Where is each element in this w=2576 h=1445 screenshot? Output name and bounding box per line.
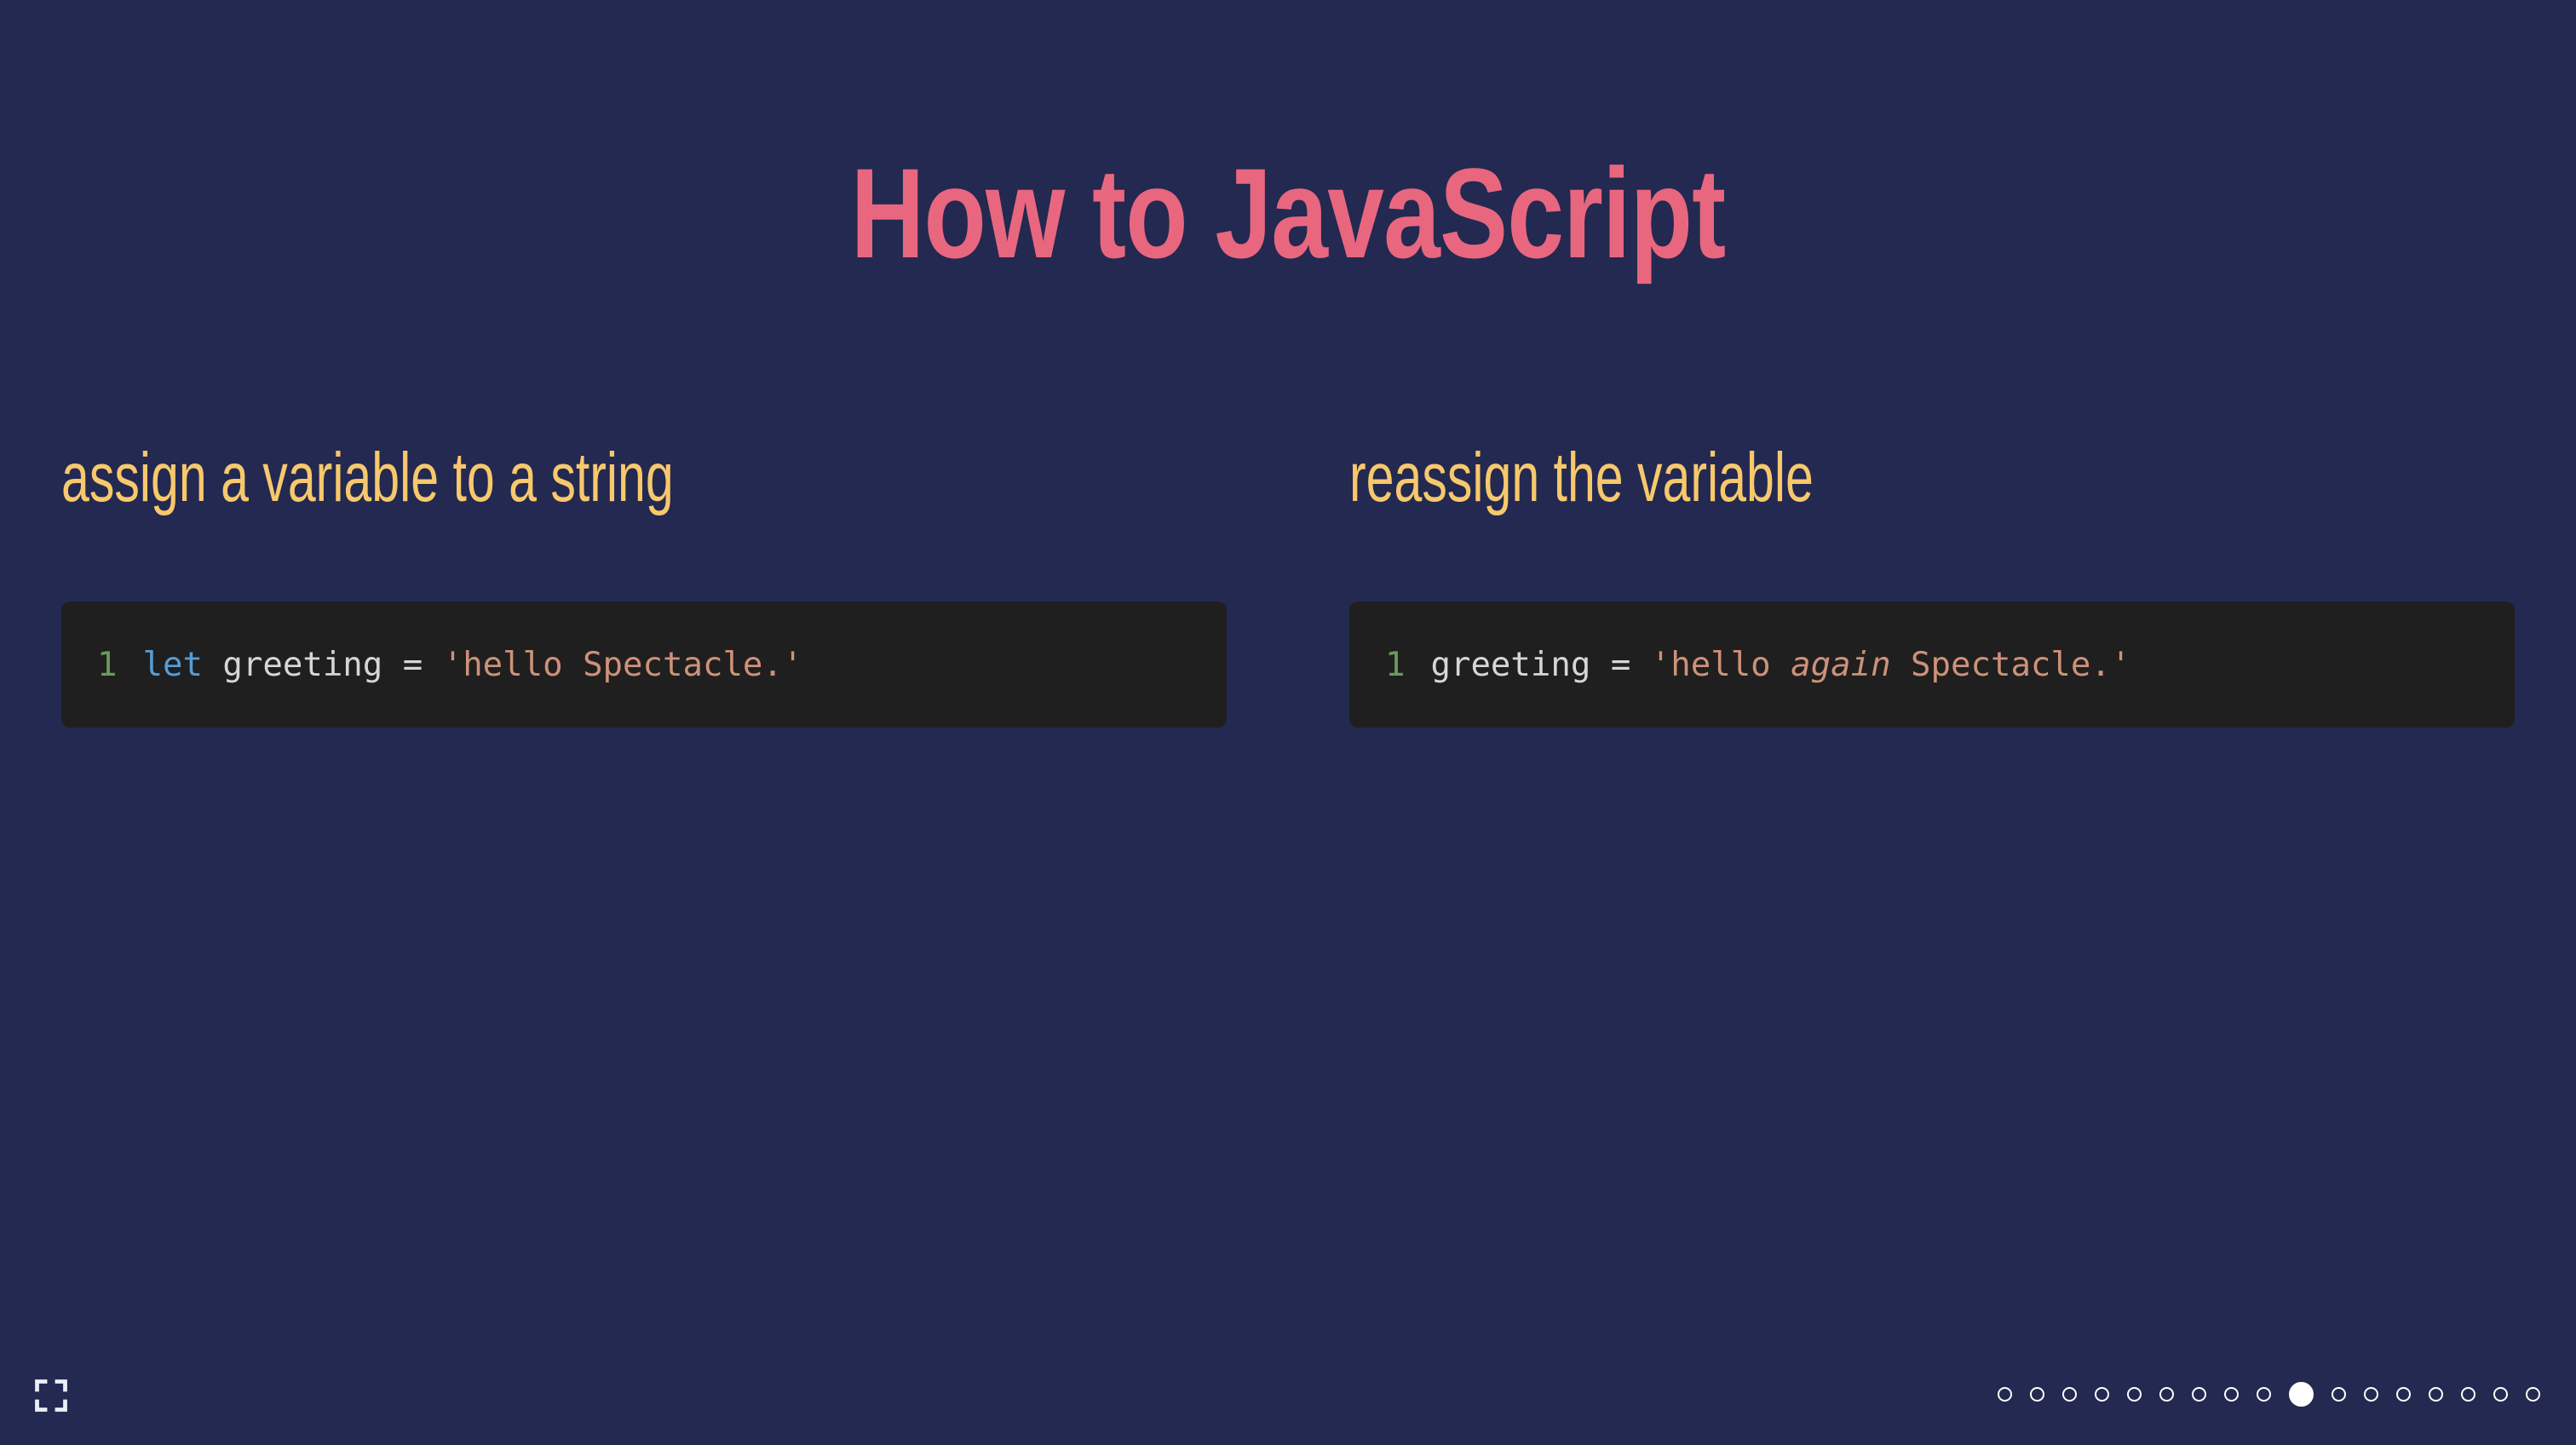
code-line-number: 1 — [97, 648, 117, 682]
code-tokens-assign: let greeting = 'hello Spectacle.' — [142, 648, 802, 682]
code-line: 1 greeting = 'hello again Spectacle.' — [1385, 648, 2130, 682]
progress-dot-active[interactable] — [2289, 1382, 2314, 1407]
progress-dot[interactable] — [2429, 1387, 2443, 1402]
progress-dot[interactable] — [2062, 1387, 2077, 1402]
code-token: 'hello Spectacle.' — [443, 646, 803, 684]
slide-columns: assign a variable to a string 1 let gree… — [0, 443, 2576, 801]
code-line: 1 let greeting = 'hello Spectacle.' — [97, 648, 802, 682]
progress-dot[interactable] — [2364, 1387, 2378, 1402]
code-token — [382, 646, 402, 684]
progress-dot[interactable] — [2526, 1387, 2540, 1402]
code-line-number: 1 — [1385, 648, 1405, 682]
progress-dot[interactable] — [2224, 1387, 2239, 1402]
code-token: again — [1791, 646, 1890, 684]
code-token — [1630, 646, 1650, 684]
column-heading-reassign: reassign the variable — [1349, 443, 2188, 525]
code-token: = — [1611, 646, 1630, 684]
code-tokens-reassign: greeting = 'hello again Spectacle.' — [1430, 648, 2130, 682]
fullscreen-icon — [32, 1377, 70, 1414]
code-token — [203, 646, 222, 684]
code-token — [423, 646, 442, 684]
column-reassign-variable: reassign the variable 1 greeting = 'hell… — [1288, 443, 2576, 801]
code-token: Spectacle.' — [1891, 646, 2131, 684]
progress-dot[interactable] — [2030, 1387, 2044, 1402]
code-token: 'hello — [1651, 646, 1791, 684]
progress-dot[interactable] — [2127, 1387, 2142, 1402]
column-assign-variable: assign a variable to a string 1 let gree… — [0, 443, 1288, 801]
progress-dot[interactable] — [2159, 1387, 2174, 1402]
column-heading-assign: assign a variable to a string — [61, 443, 900, 525]
code-block-assign: 1 let greeting = 'hello Spectacle.' — [61, 602, 1227, 728]
progress-dot[interactable] — [2396, 1387, 2411, 1402]
fullscreen-button[interactable] — [32, 1377, 70, 1414]
slide-title: How to JavaScript — [257, 147, 2318, 281]
progress-dot[interactable] — [1998, 1387, 2012, 1402]
slide-progress-dots — [1998, 1377, 2540, 1411]
progress-dot[interactable] — [2192, 1387, 2206, 1402]
code-token: = — [403, 646, 423, 684]
code-block-reassign: 1 greeting = 'hello again Spectacle.' — [1349, 602, 2515, 728]
code-token: greeting — [1430, 646, 1590, 684]
progress-dot[interactable] — [2461, 1387, 2475, 1402]
progress-dot[interactable] — [2332, 1387, 2346, 1402]
progress-dot[interactable] — [2257, 1387, 2271, 1402]
progress-dot[interactable] — [2095, 1387, 2109, 1402]
progress-dot[interactable] — [2493, 1387, 2508, 1402]
code-token: greeting — [222, 646, 382, 684]
code-token — [1590, 646, 1610, 684]
code-token: let — [142, 646, 202, 684]
presentation-slide: How to JavaScript assign a variable to a… — [0, 0, 2576, 1445]
